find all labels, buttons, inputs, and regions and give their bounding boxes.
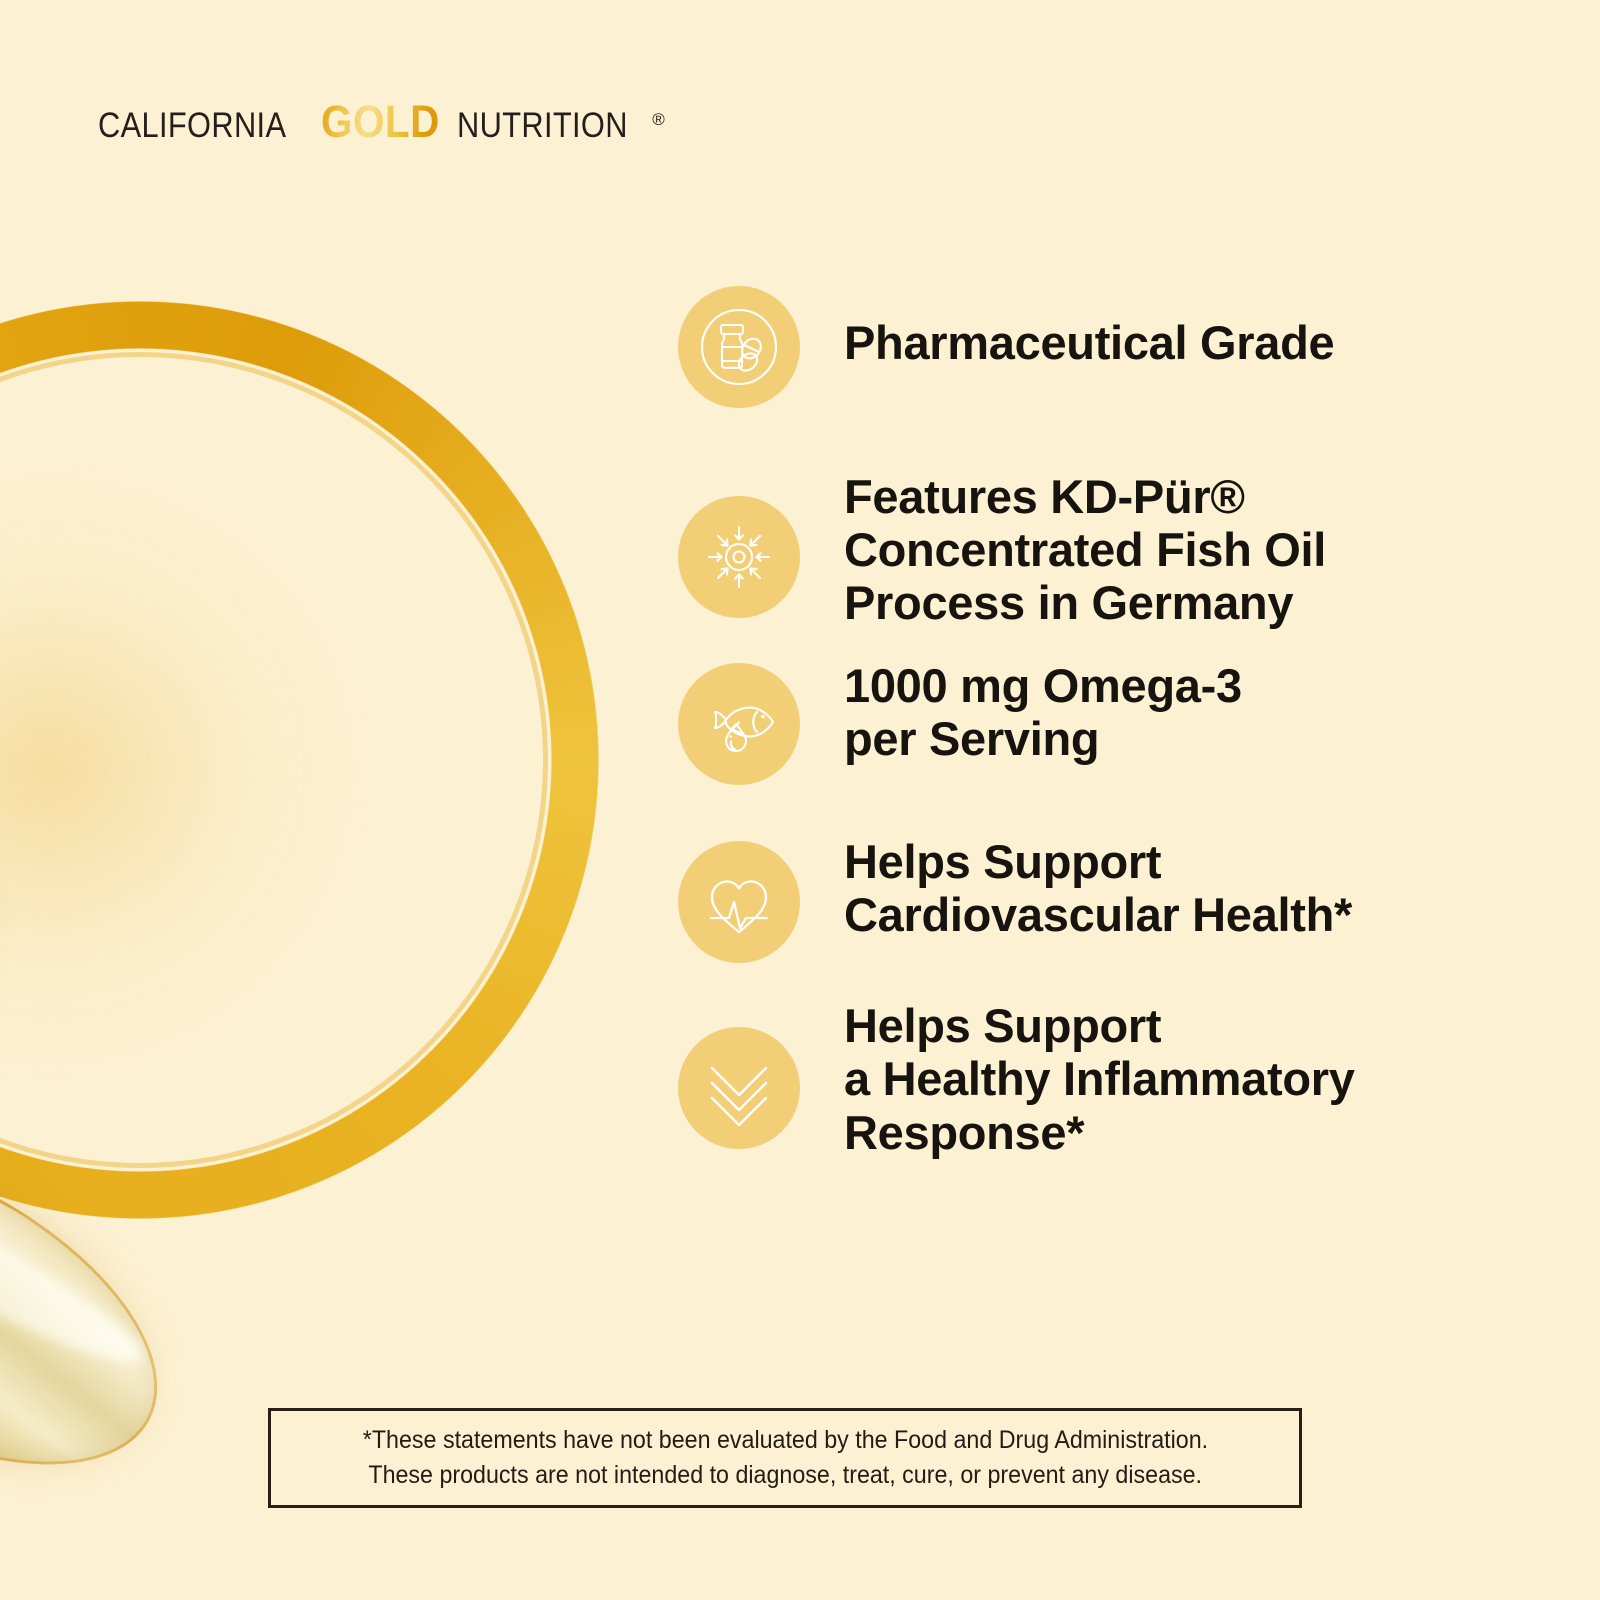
feature-label: Helps Support Cardiovascular Health*	[844, 827, 1352, 941]
feature-list: Pharmaceutical Grade	[678, 286, 1508, 1159]
brand-logo: CALIFORNIA GOLD NUTRITION ®	[98, 96, 664, 148]
registered-trademark-icon: ®	[652, 110, 665, 130]
disclaimer-line-1: *These statements have not been evaluate…	[362, 1423, 1207, 1459]
concentration-arrows-icon	[678, 496, 800, 618]
brand-name-california: CALIFORNIA	[98, 106, 286, 146]
feature-line: Cardiovascular Health*	[844, 888, 1352, 941]
feature-item-inflammatory-response: Helps Support a Healthy Inflammatory Res…	[678, 999, 1508, 1158]
feature-line: Helps Support	[844, 835, 1352, 888]
feature-line: Process in Germany	[844, 576, 1326, 629]
feature-label: 1000 mg Omega-3 per Serving	[844, 651, 1242, 765]
pill-bottle-icon	[678, 286, 800, 408]
disclaimer-line-2: These products are not intended to diagn…	[368, 1458, 1202, 1494]
feature-line: Concentrated Fish Oil	[844, 523, 1326, 576]
fish-oil-drop-icon	[678, 663, 800, 785]
heart-pulse-icon	[678, 841, 800, 963]
feature-item-pharmaceutical-grade: Pharmaceutical Grade	[678, 286, 1508, 408]
product-visual	[0, 300, 600, 1220]
feature-item-omega-3-dose: 1000 mg Omega-3 per Serving	[678, 651, 1508, 785]
triple-chevron-down-icon	[678, 1027, 800, 1149]
feature-line: Response*	[844, 1106, 1355, 1159]
brand-name-nutrition: NUTRITION	[457, 106, 628, 146]
brand-name-gold: GOLD	[321, 96, 440, 148]
feature-line: Helps Support	[844, 999, 1355, 1052]
feature-line: per Serving	[844, 712, 1242, 765]
fda-disclaimer-box: *These statements have not been evaluate…	[268, 1408, 1302, 1508]
feature-line: a Healthy Inflammatory	[844, 1052, 1355, 1105]
feature-label: Features KD-Pür® Concentrated Fish Oil P…	[844, 470, 1326, 629]
feature-label: Helps Support a Healthy Inflammatory Res…	[844, 999, 1355, 1158]
feature-label: Pharmaceutical Grade	[844, 286, 1334, 369]
feature-item-cardiovascular-health: Helps Support Cardiovascular Health*	[678, 827, 1508, 963]
feature-line: Features KD-Pür®	[844, 470, 1326, 523]
feature-item-kd-pur-process: Features KD-Pür® Concentrated Fish Oil P…	[678, 470, 1508, 629]
feature-line: 1000 mg Omega-3	[844, 659, 1242, 712]
feature-line: Pharmaceutical Grade	[844, 316, 1334, 369]
